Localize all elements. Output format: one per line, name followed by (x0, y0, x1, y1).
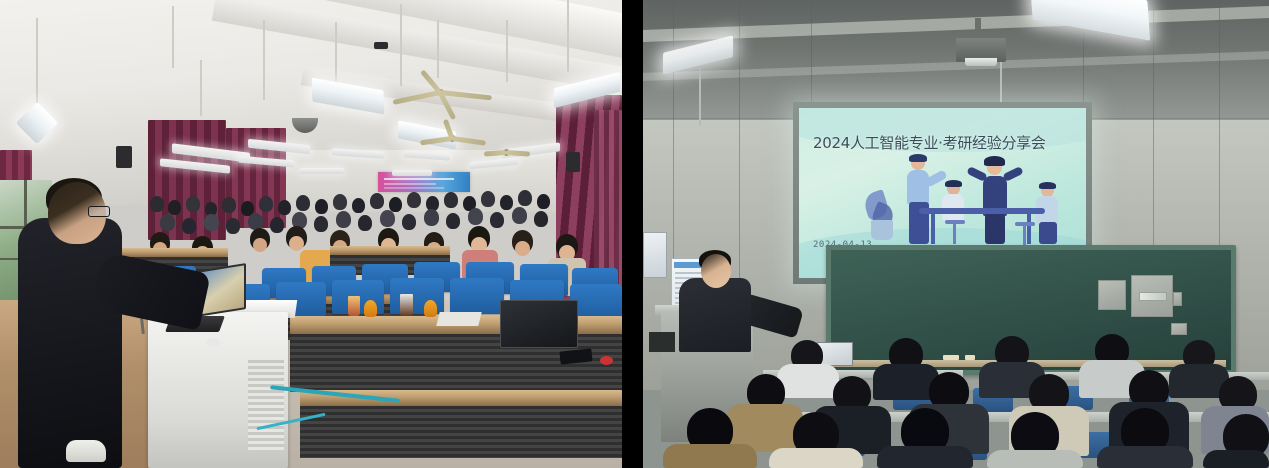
wall-speaker (566, 152, 580, 172)
desk-papers (436, 312, 481, 326)
speaker-body (679, 278, 751, 352)
desk-mouse (600, 356, 613, 365)
slide-title: 2024人工智能专业·考研经验分享会 (813, 136, 1075, 152)
drink-cup (364, 300, 377, 317)
podium-mouse (206, 338, 220, 347)
speaker-head (701, 254, 731, 288)
ceiling-light (392, 170, 432, 176)
drink-cup (348, 296, 360, 316)
lecturer-glasses (88, 206, 110, 217)
lecturer-body (18, 218, 122, 468)
left-photo-lecture-hall-wide (0, 0, 622, 468)
wall-speaker (116, 146, 132, 168)
chalkboard (826, 245, 1236, 375)
wall-control-box (1131, 275, 1173, 317)
lecturer-shoe (66, 440, 106, 462)
chalk-piece (943, 355, 959, 360)
ceiling-light (300, 168, 344, 174)
wall-framed-picture (643, 232, 667, 278)
projector-lens (965, 58, 997, 66)
wall-panel (1098, 280, 1126, 310)
right-photo-screen-view: 2024人工智能专业·考研经验分享会 2024-04-13 主办：计算机与人工智… (643, 0, 1269, 468)
ceiling-sensor (374, 42, 388, 49)
drink-cup (400, 294, 413, 316)
photo-composite: 2024人工智能专业·考研经验分享会 2024-04-13 主办：计算机与人工智… (0, 0, 1269, 468)
drink-cup (424, 300, 437, 317)
desk-laptop (500, 300, 578, 348)
photo-divider (622, 0, 643, 468)
auditorium-seat (450, 278, 504, 314)
desk-front-panel (300, 406, 622, 458)
wall-panel (1171, 323, 1187, 335)
wall-switch[interactable] (1173, 292, 1182, 306)
projector-mount (975, 18, 981, 40)
podium-equipment (649, 332, 675, 352)
chalk-piece (965, 355, 975, 360)
podium-vents (248, 360, 284, 450)
student-desk-row (330, 246, 450, 255)
